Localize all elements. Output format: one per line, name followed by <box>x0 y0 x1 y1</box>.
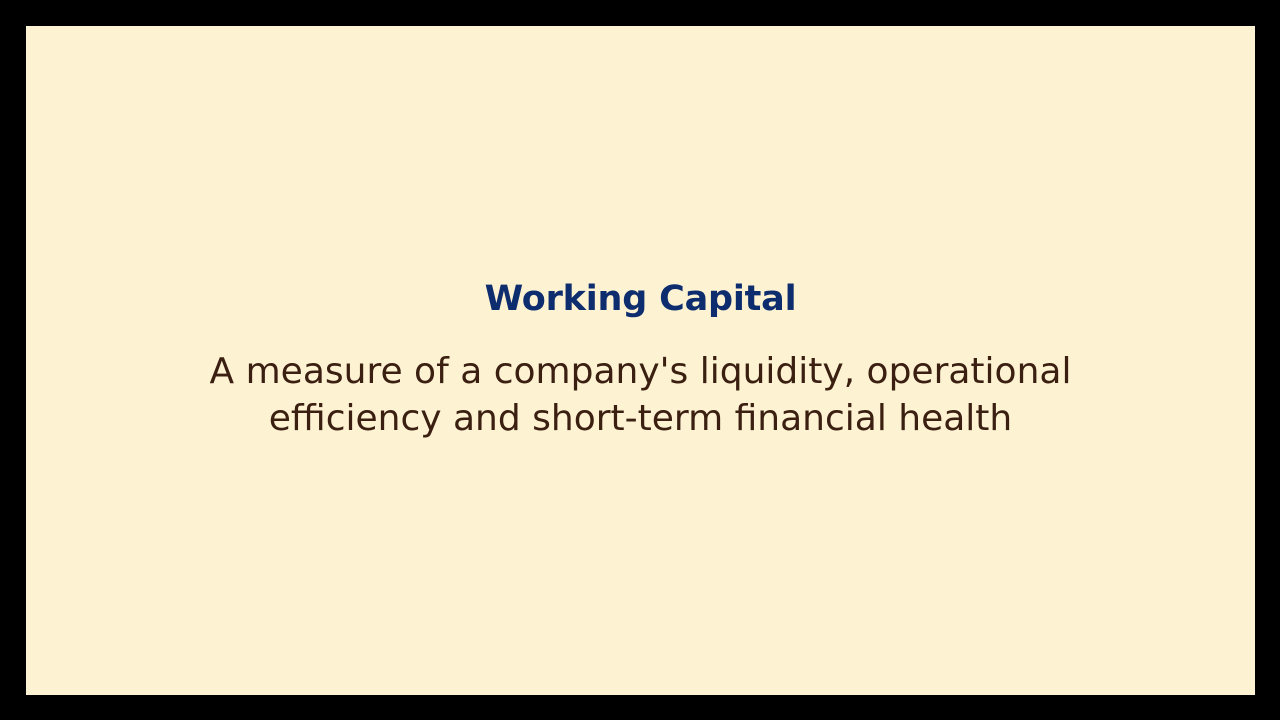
definition-text: A measure of a company's liquidity, oper… <box>191 348 1091 442</box>
page-title: Working Capital <box>485 279 797 319</box>
slide-panel: Working Capital A measure of a company's… <box>26 26 1255 695</box>
slide-content: Working Capital A measure of a company's… <box>26 26 1255 695</box>
